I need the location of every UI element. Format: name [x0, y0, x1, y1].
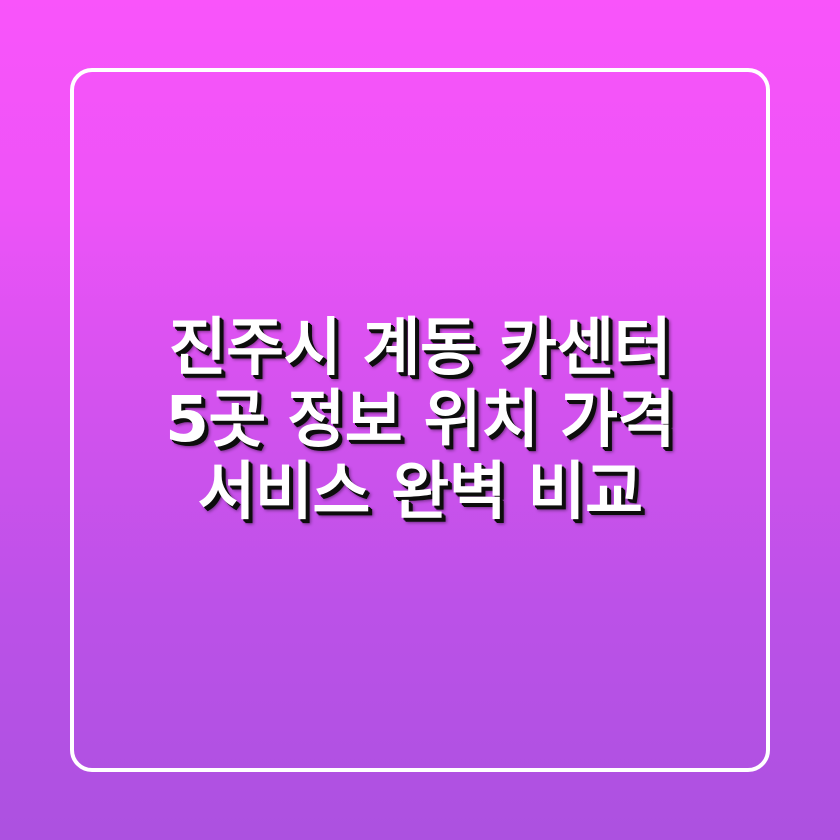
thumbnail-card: 진주시 계동 카센터 5곳 정보 위치 가격 서비스 완벽 비교	[0, 0, 840, 840]
headline-line-1: 진주시 계동 카센터	[96, 312, 744, 384]
headline-line-3: 서비스 완벽 비교	[96, 456, 744, 528]
headline-line-2: 5곳 정보 위치 가격	[96, 384, 744, 456]
headline-block: 진주시 계동 카센터 5곳 정보 위치 가격 서비스 완벽 비교	[0, 0, 840, 840]
